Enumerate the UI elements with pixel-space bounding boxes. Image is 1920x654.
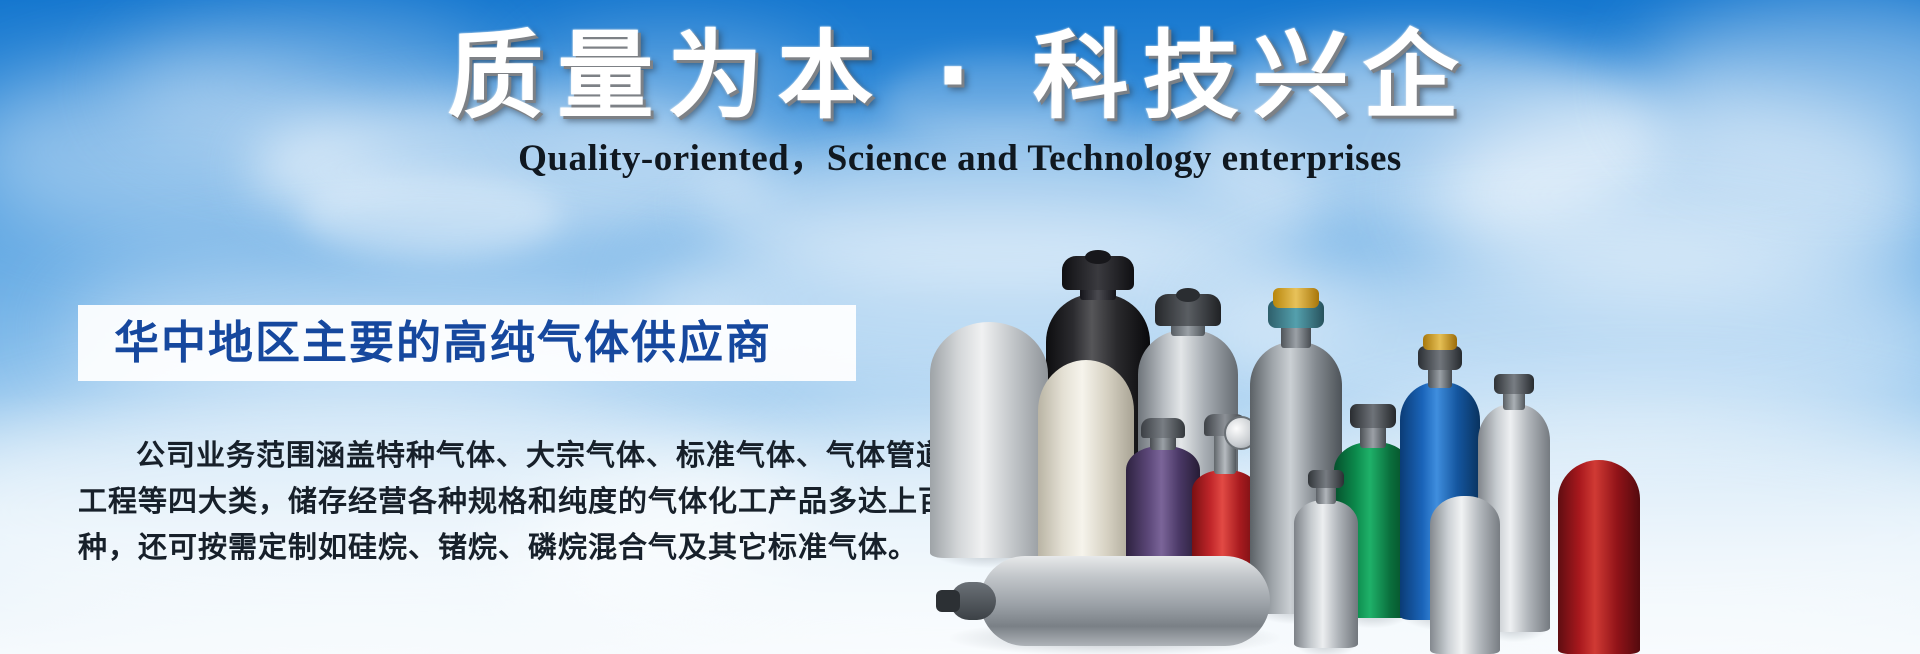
cylinder-valve (1141, 418, 1185, 438)
cylinder-valve (1350, 404, 1396, 428)
cylinder-valve (1494, 374, 1534, 394)
dark-red-cylinder (1558, 460, 1640, 654)
white-large-cylinder (930, 322, 1048, 558)
aluminium-short-cylinder (1430, 496, 1500, 654)
paragraph-line: 种，还可按需定制如硅烷、锗烷、磷烷混合气及其它标准气体。 (78, 524, 868, 570)
description-paragraph: 公司业务范围涵盖特种气体、大宗气体、标准气体、气体管道 工程等四大类，储存经营各… (78, 432, 868, 570)
paragraph-line: 工程等四大类，储存经营各种规格和纯度的气体化工产品多达上百 (78, 478, 868, 524)
tank-valve (936, 590, 960, 612)
headline-chinese: 质量为本 · 科技兴企 (0, 20, 1920, 132)
cylinder-handwheel (1176, 288, 1200, 302)
promotional-banner: 质量为本 · 科技兴企 Quality-oriented，Science and… (0, 0, 1920, 654)
lying-horizontal-tank (950, 556, 1280, 646)
gas-cylinder-photo-group (930, 140, 1920, 654)
cylinder-body (930, 322, 1048, 558)
tank-body (980, 556, 1270, 646)
cream-cylinder (1038, 360, 1134, 572)
cylinder-body (1430, 496, 1500, 654)
cylinder-valve (1308, 470, 1344, 488)
cloud-shape (300, 170, 560, 260)
valve-handwheel-icon (1423, 334, 1457, 350)
cylinder-body (1558, 460, 1640, 654)
paragraph-line: 公司业务范围涵盖特种气体、大宗气体、标准气体、气体管道 (78, 432, 868, 478)
aluminium-cylinder (1294, 466, 1358, 648)
valve-handwheel-icon (1273, 288, 1319, 308)
cylinder-body (1038, 360, 1134, 572)
cylinder-body (1294, 500, 1358, 648)
cylinder-handwheel (1085, 250, 1111, 264)
subheadline-text: 华中地区主要的高纯气体供应商 (78, 317, 772, 369)
subheadline-box: 华中地区主要的高纯气体供应商 (78, 305, 856, 381)
